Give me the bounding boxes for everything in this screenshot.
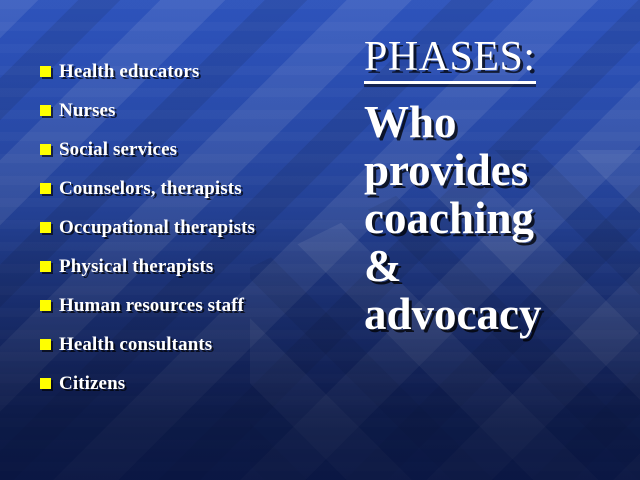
subheading-line: provides xyxy=(364,146,636,194)
square-bullet-icon xyxy=(40,300,51,311)
page-title: PHASES: xyxy=(364,34,536,84)
list-item: Counselors, therapists xyxy=(40,169,340,208)
subheading-line: Who xyxy=(364,98,636,146)
subheading-line: & xyxy=(364,242,636,290)
square-bullet-icon xyxy=(40,378,51,389)
headline-wrap: PHASES: xyxy=(364,34,636,84)
list-item: Physical therapists xyxy=(40,247,340,286)
list-item-label: Occupational therapists xyxy=(59,217,255,239)
list-item-label: Human resources staff xyxy=(59,295,244,317)
subheading-line: advocacy xyxy=(364,290,636,338)
list-item-label: Physical therapists xyxy=(59,256,213,278)
list-item-label: Nurses xyxy=(59,100,116,122)
square-bullet-icon xyxy=(40,183,51,194)
right-column: PHASES: Who provides coaching & advocacy xyxy=(364,34,636,338)
list-item: Health educators xyxy=(40,52,340,91)
square-bullet-icon xyxy=(40,105,51,116)
list-item: Occupational therapists xyxy=(40,208,340,247)
square-bullet-icon xyxy=(40,144,51,155)
list-item-label: Social services xyxy=(59,139,177,161)
list-item-label: Counselors, therapists xyxy=(59,178,242,200)
subheading-line: coaching xyxy=(364,194,636,242)
list-item-label: Citizens xyxy=(59,373,125,395)
bullet-list: Health educators Nurses Social services … xyxy=(40,52,340,403)
square-bullet-icon xyxy=(40,66,51,77)
list-item: Social services xyxy=(40,130,340,169)
presentation-slide: Health educators Nurses Social services … xyxy=(0,0,640,480)
list-item: Nurses xyxy=(40,91,340,130)
list-item-label: Health consultants xyxy=(59,334,212,356)
list-item: Health consultants xyxy=(40,325,340,364)
subheading: Who provides coaching & advocacy xyxy=(364,98,636,338)
list-item: Human resources staff xyxy=(40,286,340,325)
square-bullet-icon xyxy=(40,222,51,233)
list-item: Citizens xyxy=(40,364,340,403)
list-item-label: Health educators xyxy=(59,61,199,83)
slide-content: Health educators Nurses Social services … xyxy=(0,0,640,480)
square-bullet-icon xyxy=(40,339,51,350)
square-bullet-icon xyxy=(40,261,51,272)
